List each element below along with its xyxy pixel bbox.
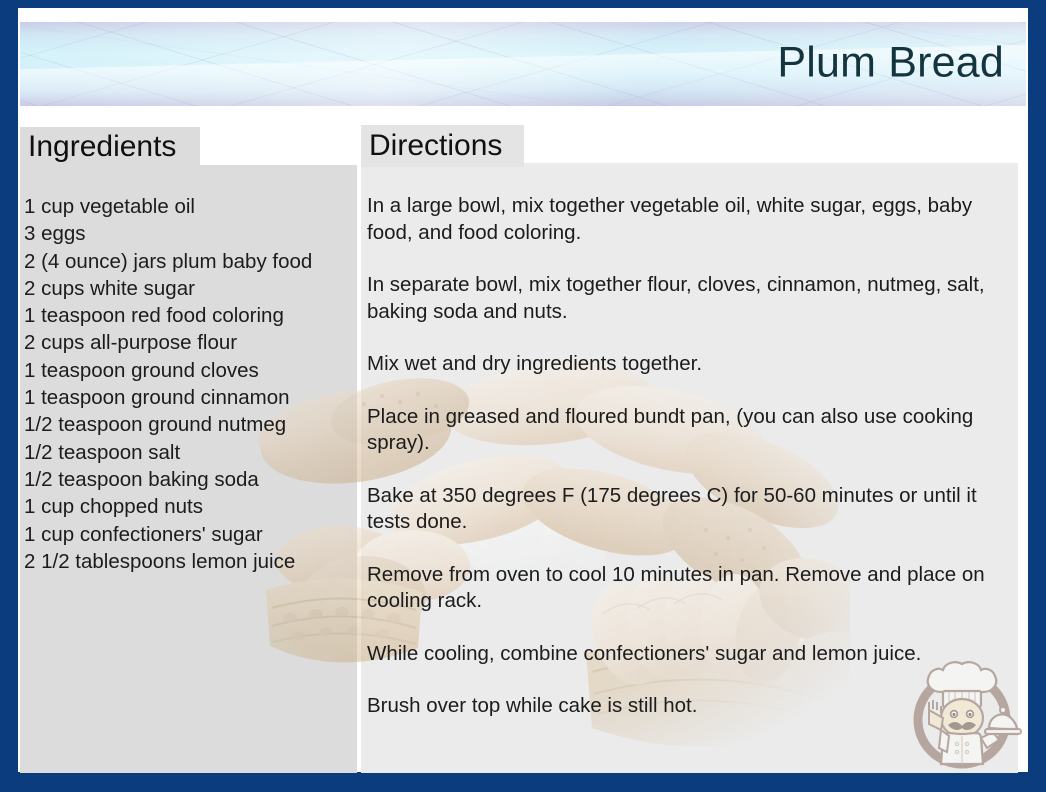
direction-step: Remove from oven to cool 10 minutes in p… bbox=[367, 562, 1015, 615]
recipe-card: Plum Bread bbox=[0, 0, 1046, 792]
list-item: 1 cup vegetable oil bbox=[24, 193, 354, 220]
direction-step: Place in greased and floured bundt pan, … bbox=[367, 404, 1015, 457]
direction-step: In a large bowl, mix together vegetable … bbox=[367, 193, 1015, 246]
ingredients-list: 1 cup vegetable oil 3 eggs 2 (4 ounce) j… bbox=[24, 193, 354, 575]
direction-step: Brush over top while cake is still hot. bbox=[367, 693, 1015, 720]
list-item: 2 (4 ounce) jars plum baby food bbox=[24, 248, 354, 275]
list-item: 3 eggs bbox=[24, 220, 354, 247]
page-title: Plum Bread bbox=[777, 42, 1004, 85]
list-item: 1/2 teaspoon ground nutmeg bbox=[24, 411, 354, 438]
directions-list: In a large bowl, mix together vegetable … bbox=[367, 193, 1015, 720]
list-item: 2 cups all-purpose flour bbox=[24, 329, 354, 356]
list-item: 1/2 teaspoon salt bbox=[24, 439, 354, 466]
list-item: 2 cups white sugar bbox=[24, 275, 354, 302]
directions-heading: Directions bbox=[369, 131, 502, 161]
list-item: 1 teaspoon ground cloves bbox=[24, 357, 354, 384]
list-item: 1 cup confectioners' sugar bbox=[24, 521, 354, 548]
header-banner: Plum Bread bbox=[20, 22, 1026, 106]
direction-step: In separate bowl, mix together flour, cl… bbox=[367, 272, 1015, 325]
tab-directions[interactable]: Directions bbox=[361, 125, 524, 167]
list-item: 1 teaspoon ground cinnamon bbox=[24, 384, 354, 411]
list-item: 1 cup chopped nuts bbox=[24, 493, 354, 520]
direction-step: Mix wet and dry ingredients together. bbox=[367, 351, 1015, 378]
direction-step: While cooling, combine confectioners' su… bbox=[367, 641, 1015, 668]
list-item: 1 teaspoon red food coloring bbox=[24, 302, 354, 329]
list-item: 2 1/2 tablespoons lemon juice bbox=[24, 548, 354, 575]
list-item: 1/2 teaspoon baking soda bbox=[24, 466, 354, 493]
tab-ingredients[interactable]: Ingredients bbox=[20, 127, 200, 167]
ingredients-heading: Ingredients bbox=[28, 132, 176, 162]
direction-step: Bake at 350 degrees F (175 degrees C) fo… bbox=[367, 483, 1015, 536]
